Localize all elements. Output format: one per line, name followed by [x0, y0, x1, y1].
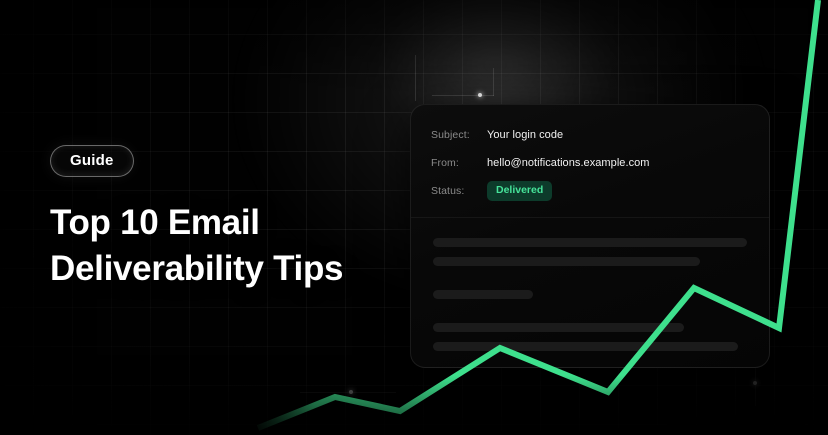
hero-banner: Guide Top 10 Email Deliverability Tips S… — [0, 0, 828, 435]
skeleton-line — [433, 323, 684, 332]
email-preview-card[interactable]: Subject: Your login code From: hello@not… — [410, 104, 770, 368]
skeleton-line — [433, 342, 738, 351]
guide-badge[interactable]: Guide — [50, 145, 134, 177]
email-meta-row-from: From: hello@notifications.example.com — [431, 151, 769, 175]
hero-copy: Guide Top 10 Email Deliverability Tips — [50, 145, 343, 291]
email-card-header: Subject: Your login code From: hello@not… — [411, 105, 769, 218]
status-badge: Delivered — [487, 181, 552, 201]
page-title: Top 10 Email Deliverability Tips — [50, 200, 343, 291]
email-from-value: hello@notifications.example.com — [487, 157, 650, 169]
email-card-body — [411, 218, 769, 351]
email-status-label: Status: — [431, 185, 487, 197]
email-from-label: From: — [431, 157, 487, 169]
email-meta-row-subject: Subject: Your login code — [431, 123, 769, 147]
skeleton-line — [433, 257, 700, 266]
email-meta-row-status: Status: Delivered — [431, 179, 769, 203]
email-subject-label: Subject: — [431, 129, 487, 141]
skeleton-line — [433, 238, 747, 247]
email-subject-value: Your login code — [487, 129, 563, 141]
skeleton-line — [433, 290, 533, 299]
